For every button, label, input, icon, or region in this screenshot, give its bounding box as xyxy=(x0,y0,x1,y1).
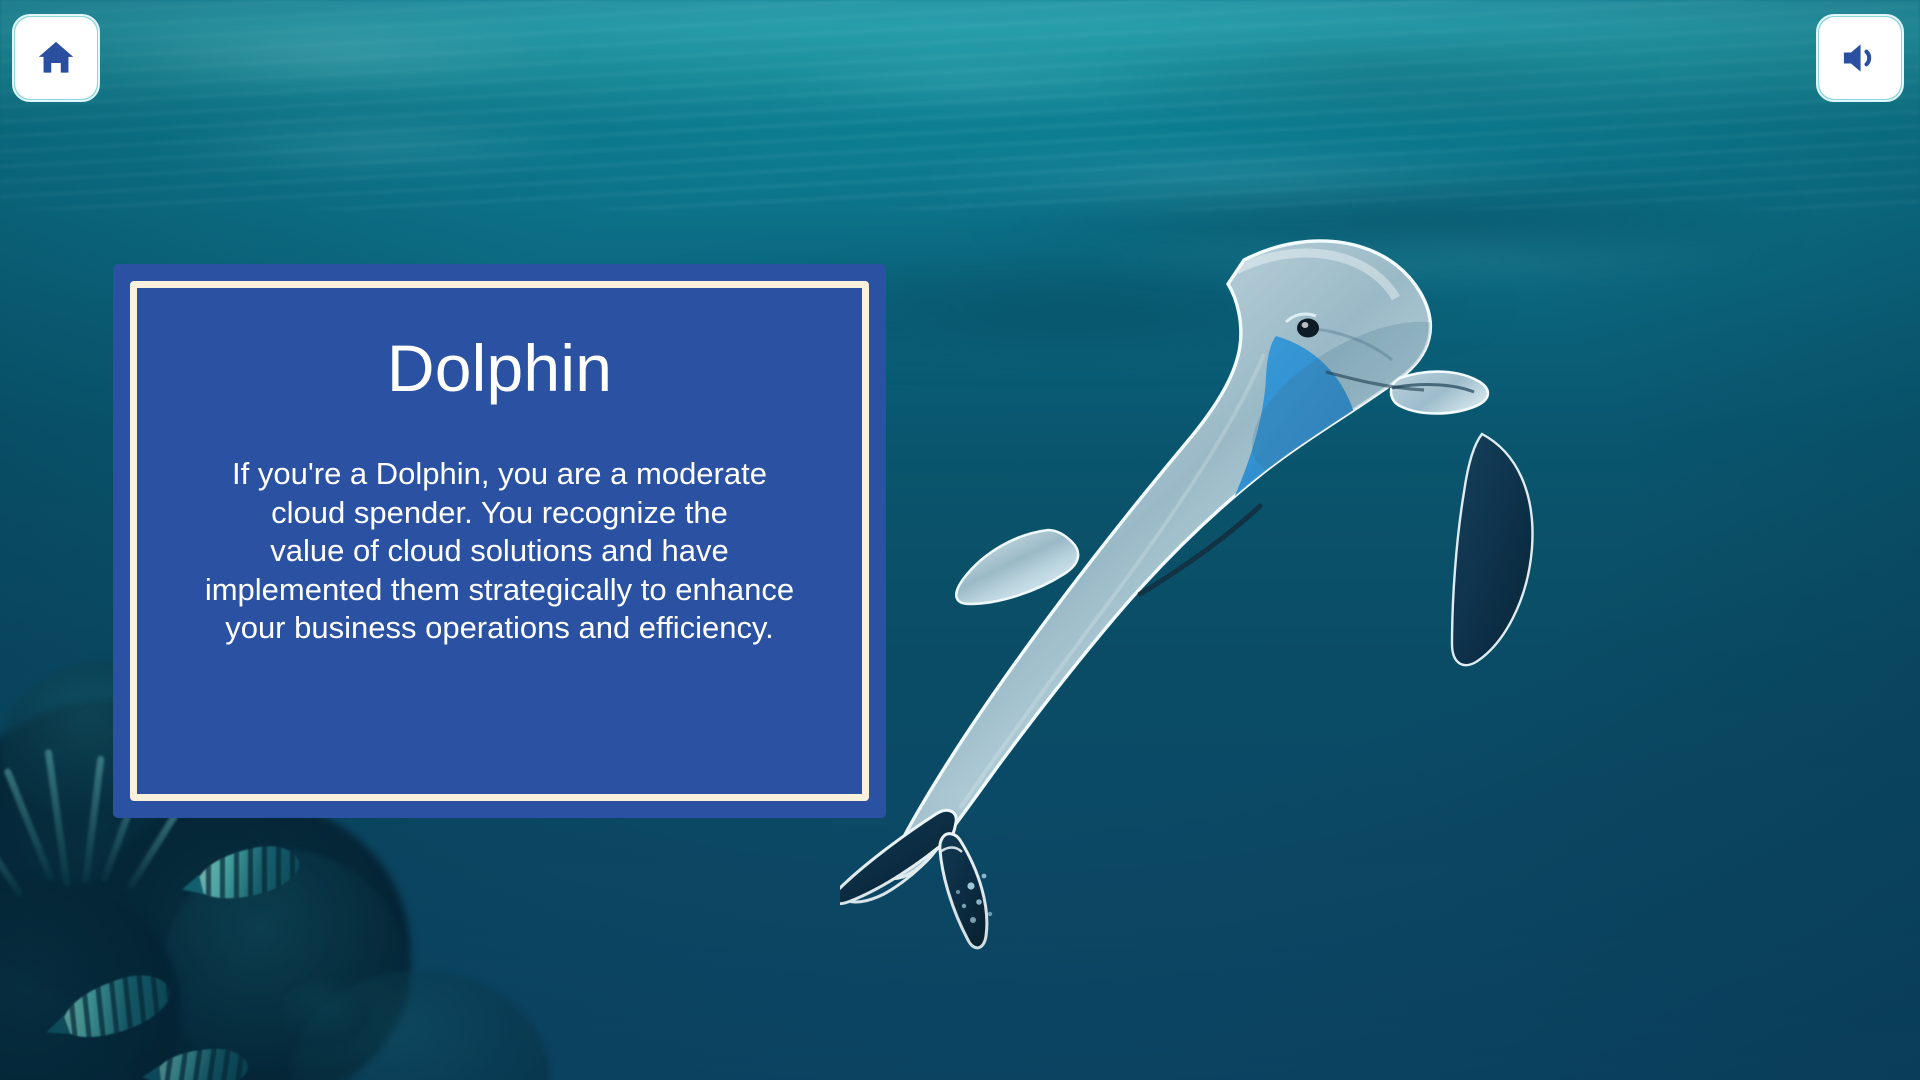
sound-button[interactable] xyxy=(1822,20,1898,96)
home-button[interactable] xyxy=(18,20,94,96)
speaker-volume-icon xyxy=(1837,35,1883,81)
home-icon xyxy=(34,36,78,80)
scene-stage: Dolphin If you're a Dolphin, you are a m… xyxy=(0,0,1920,1080)
result-card: Dolphin If you're a Dolphin, you are a m… xyxy=(113,264,886,818)
page-title: Dolphin xyxy=(163,334,836,403)
result-card-inner-frame: Dolphin If you're a Dolphin, you are a m… xyxy=(130,281,869,801)
result-description: If you're a Dolphin, you are a moderate … xyxy=(163,455,836,647)
